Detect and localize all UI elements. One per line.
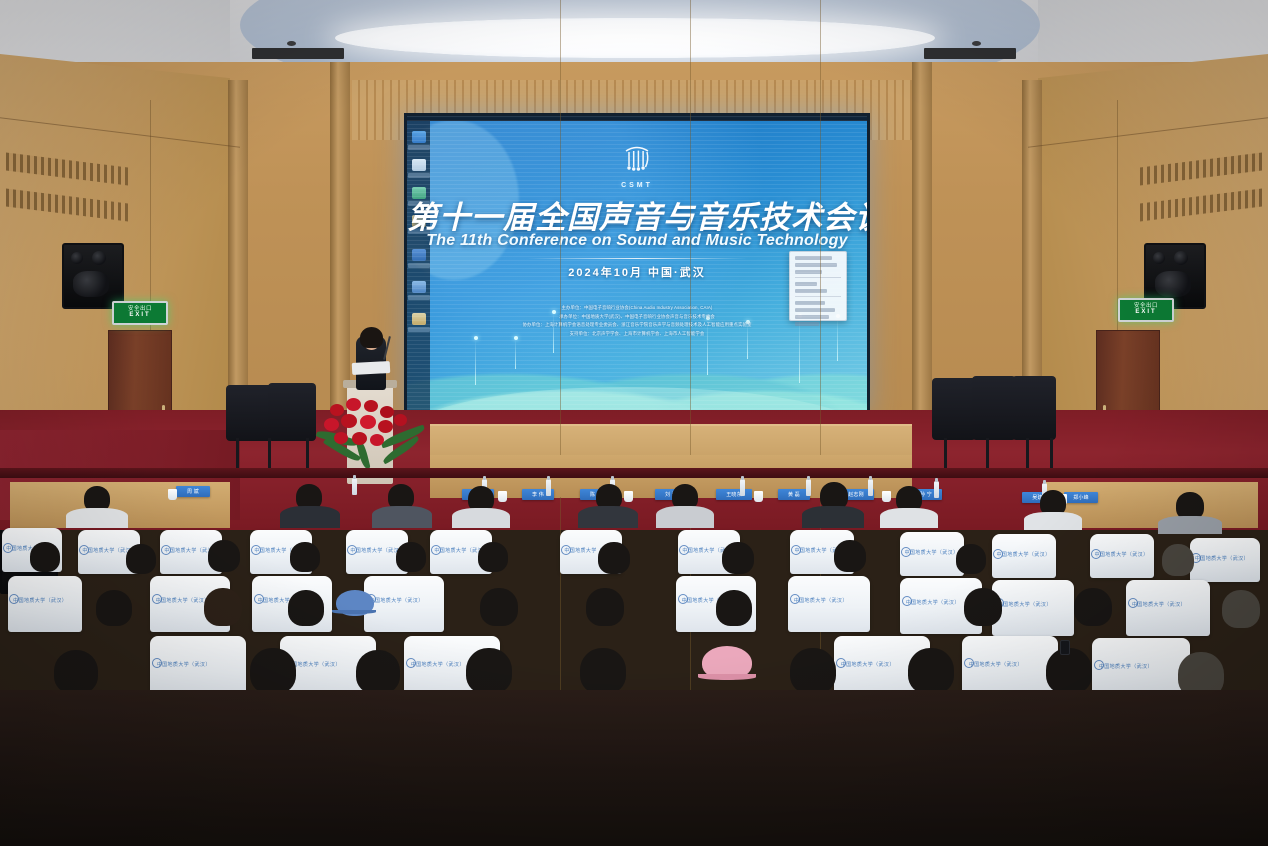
slide-title-cn: 第十一届全国声音与音乐技术会议 xyxy=(407,192,867,237)
flower-8 xyxy=(378,420,393,433)
conference-hall-photo: 安全出口 EXIT 安全出口 EXIT xyxy=(0,0,1268,846)
menu-item-4[interactable] xyxy=(795,282,817,286)
ceiling-vent-left xyxy=(252,48,344,59)
flower-9 xyxy=(394,414,407,426)
organizer-line-0: 主办单位：中国电子音响行业协会(China Audio Industry Ass… xyxy=(425,304,849,313)
pa-speaker-left xyxy=(62,243,124,309)
flower-10 xyxy=(334,432,348,444)
menu-item-7[interactable] xyxy=(795,308,835,312)
person-c7-head xyxy=(964,588,1002,626)
flower-4 xyxy=(380,406,394,418)
person-c4-head xyxy=(480,588,518,626)
desktop-taskbar[interactable] xyxy=(407,116,867,121)
slide-light-line-1 xyxy=(475,339,476,385)
seat-cover-c9[interactable]: 中国地质大学（武汉） xyxy=(1126,580,1210,636)
person-d4-head xyxy=(466,648,512,694)
flower-7 xyxy=(360,415,376,429)
stage-chair-right-3[interactable] xyxy=(1012,376,1056,440)
exit-sign-left: 安全出口 EXIT xyxy=(112,301,168,325)
person-d8-head xyxy=(1046,648,1092,694)
pa-woofer-left xyxy=(73,271,109,297)
stage-chair-right-2[interactable] xyxy=(972,376,1016,440)
exit-sign-right-en: EXIT xyxy=(1135,309,1156,316)
desktop-icon-4[interactable] xyxy=(412,249,426,261)
pa-tweeter-left xyxy=(71,252,83,264)
seat-cover-label-d3: 中国地质大学（武汉） xyxy=(411,661,465,668)
menu-item-3[interactable] xyxy=(795,270,822,274)
seat-cover-label-c8: 中国地质大学（武汉） xyxy=(998,601,1052,608)
seat-cover-label-c4: 中国地质大学（武汉） xyxy=(370,597,424,604)
flower-1 xyxy=(330,404,344,416)
seat-cover-c6[interactable]: 中国地质大学（武汉） xyxy=(788,576,870,632)
desktop-icon-folder-2[interactable] xyxy=(412,313,426,325)
ceiling-spotlight-left xyxy=(287,41,296,46)
person-d5-head xyxy=(580,648,626,694)
seat-cover-c1[interactable]: 中国地质大学（武汉） xyxy=(8,576,82,632)
seat-cover-label-b12: 中国地质大学（武汉） xyxy=(1094,551,1148,558)
person-c1-head xyxy=(96,590,132,626)
person-d2-head xyxy=(250,648,296,694)
seat-row-c: 中国地质大学（武汉） 中国地质大学（武汉） 中国地质大学（武汉） 中国地质大学（… xyxy=(0,566,1268,636)
seat-cover-label-c2: 中国地质大学（武汉） xyxy=(156,597,210,604)
menu-separator-2 xyxy=(795,296,841,297)
person-c3-head xyxy=(288,590,324,626)
person-c9-head xyxy=(1222,590,1260,628)
menu-item-5[interactable] xyxy=(795,289,827,293)
desktop-icon-5-label xyxy=(408,295,430,300)
seat-cover-label-c6: 中国地质大学（武汉） xyxy=(794,597,848,604)
csmt-pendulum-logo-icon xyxy=(620,142,654,176)
seat-cover-label-d5: 中国地质大学（武汉） xyxy=(969,661,1023,668)
organizer-line-2: 协办单位：上海计算机学会语音处理专业委员会、浙江音乐学院音乐声学与音频处理技术及… xyxy=(425,321,849,330)
menu-separator-1 xyxy=(795,277,841,278)
foreground-shadow xyxy=(0,690,1268,846)
seat-cover-label-d1: 中国地质大学（武汉） xyxy=(157,661,211,668)
person-c2-head xyxy=(204,588,242,626)
desktop-icon-5[interactable] xyxy=(412,281,426,293)
person-d7-head xyxy=(908,648,954,694)
menu-item-9[interactable] xyxy=(795,322,819,326)
menu-item-2[interactable] xyxy=(795,263,837,267)
context-menu-overlay[interactable] xyxy=(789,251,847,321)
slide-title-en: The 11th Conference on Sound and Music T… xyxy=(407,232,867,250)
csmt-logo-block: CSMT xyxy=(407,142,867,189)
person-c-cap-blue-brim xyxy=(332,610,376,614)
presenter-hair xyxy=(360,327,383,348)
presenter-script-paper xyxy=(352,361,391,375)
flower-5 xyxy=(324,418,339,431)
projection-screen: CSMT 第十一届全国声音与音乐技术会议 The 11th Conference… xyxy=(404,113,870,416)
person-d1-head xyxy=(54,650,98,694)
slide-organizer-block: 主办单位：中国电子音响行业协会(China Audio Industry Ass… xyxy=(425,304,849,338)
flower-arrangement xyxy=(318,392,428,464)
flower-2 xyxy=(346,398,361,411)
seat-cover-c4[interactable]: 中国地质大学（武汉） xyxy=(364,576,444,632)
person-c6-head xyxy=(716,590,752,626)
pa-woofer-right xyxy=(1155,271,1191,297)
seat-cover-label-d4: 中国地质大学（武汉） xyxy=(841,661,895,668)
person-c8-head xyxy=(1074,588,1112,626)
exit-sign-right: 安全出口 EXIT xyxy=(1118,298,1174,322)
flower-3 xyxy=(364,400,378,412)
csmt-logo-text: CSMT xyxy=(407,182,867,189)
person-c5-head xyxy=(586,588,624,626)
flower-6 xyxy=(341,414,357,428)
pa-driver-right xyxy=(1174,251,1188,265)
person-d6-head xyxy=(790,648,836,694)
phone-held-up-1[interactable] xyxy=(1060,640,1070,655)
flower-12 xyxy=(370,434,384,446)
organizer-line-1: 承办单位：中国地质大学(武汉)、中国电子音响行业协会声音与音乐技术专委会 xyxy=(425,313,849,322)
stage-chair-left-2[interactable] xyxy=(268,383,316,441)
seat-cover-label-d6: 中国地质大学（武汉） xyxy=(1099,663,1153,670)
person-d3-head xyxy=(356,650,400,694)
pa-driver-left xyxy=(92,251,106,265)
slide-light-line-2 xyxy=(515,339,516,369)
stage-chair-left-1[interactable] xyxy=(226,385,274,441)
seat-cover-label-c7: 中国地质大学（武汉） xyxy=(906,599,960,606)
ceiling-vent-right xyxy=(924,48,1016,59)
person-d-cap-pink-brim xyxy=(698,674,756,680)
seat-cover-c8[interactable]: 中国地质大学（武汉） xyxy=(992,580,1074,636)
exit-sign-left-en: EXIT xyxy=(129,312,150,319)
flower-11 xyxy=(352,432,367,445)
seat-cover-label-b13: 中国地质大学（武汉） xyxy=(1195,555,1249,562)
stage-chair-right-1[interactable] xyxy=(932,378,976,440)
seat-cover-label-b11: 中国地质大学（武汉） xyxy=(996,551,1050,558)
menu-item-1[interactable] xyxy=(795,256,832,260)
ceiling-light-panel xyxy=(335,18,935,58)
pa-tweeter-right xyxy=(1153,252,1165,264)
organizer-line-3: 支持单位：北京声学学会、上海市计算机学会、上海市人工智能学会 xyxy=(425,330,849,339)
seat-cover-label-c9: 中国地质大学（武汉） xyxy=(1132,601,1186,608)
seat-row-b: 中国地质大学（武汉） 中国地质大学（武汉） 中国地质大学（武汉） 中国地质大学（… xyxy=(0,514,1268,572)
ceiling-spotlight-right xyxy=(972,41,981,46)
seat-cover-label-b10: 中国地质大学（武汉） xyxy=(904,549,958,556)
seat-cover-label-c1: 中国地质大学（武汉） xyxy=(13,597,67,604)
menu-item-8[interactable] xyxy=(795,315,829,319)
